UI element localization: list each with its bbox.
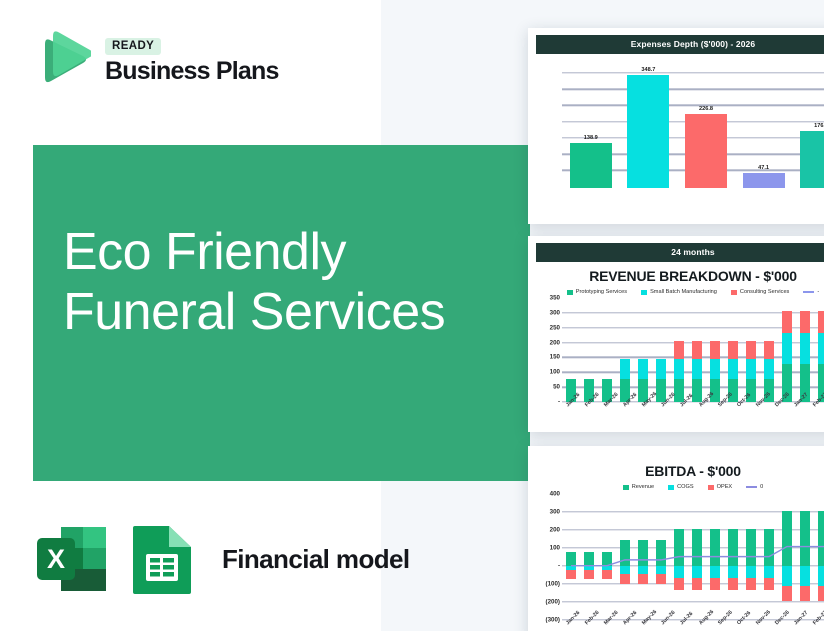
- chart-header-expenses: Expenses Depth ($'000) - 2026: [536, 35, 824, 54]
- bar-column: [602, 298, 612, 402]
- bar-value-label: 226.8: [699, 106, 713, 112]
- bar-column: [566, 298, 576, 402]
- y-tick-label: (200): [546, 599, 560, 606]
- x-tick: Jan-27: [787, 620, 797, 631]
- legend-swatch: [731, 290, 737, 295]
- chart-title-revenue: REVENUE BREAKDOWN - $'000: [536, 268, 824, 284]
- legend-swatch: [746, 486, 757, 488]
- bar-segment: [710, 341, 720, 359]
- play-logo-icon: [33, 30, 91, 90]
- bar-segment: [620, 359, 630, 380]
- legend-label: -: [817, 289, 819, 295]
- legend-label: Small Batch Manufacturing: [650, 289, 717, 295]
- microsoft-excel-icon: X: [34, 521, 110, 597]
- bar-value-label: 138.9: [584, 135, 598, 141]
- legend-swatch: [803, 291, 814, 293]
- x-tick: Oct-26: [730, 402, 740, 424]
- y-axis-revenue: 35030025020015010050-: [536, 298, 562, 402]
- bar-column: [728, 298, 738, 402]
- x-tick: Jun-26: [654, 402, 664, 424]
- footer-formats: X Financial model: [34, 521, 410, 597]
- x-axis-ebitda: Jan-26Feb-26Mar-26Apr-26May-26Jun-26Jul-…: [554, 620, 824, 631]
- bar-segment: [638, 359, 648, 380]
- x-tick: May-26: [635, 620, 645, 631]
- x-tick: Mar-26: [597, 402, 607, 424]
- bar-segment: [746, 359, 756, 380]
- chart-plot-ebitda: 400300200100-(100)(200)(300): [536, 494, 824, 620]
- legend-label: Prototyping Services: [576, 289, 627, 295]
- google-sheets-icon: [127, 521, 197, 597]
- bar-segment: [782, 311, 792, 333]
- legend-item: Small Batch Manufacturing: [641, 289, 717, 295]
- brand-header: READY Business Plans: [33, 30, 279, 90]
- bar-segment: [746, 341, 756, 359]
- bar: [800, 131, 824, 188]
- y-tick-label: 200: [550, 527, 560, 534]
- financial-model-label: Financial model: [222, 544, 410, 575]
- bar: [570, 143, 612, 188]
- chart-legend-ebitda: RevenueCOGSOPEX0: [536, 484, 824, 490]
- bar-segment: [800, 311, 810, 333]
- bar-segment: [692, 341, 702, 359]
- legend-label: OPEX: [717, 484, 733, 490]
- legend-item: 0: [746, 484, 763, 490]
- bar-column: [584, 298, 594, 402]
- bar-column: [782, 298, 792, 402]
- legend-swatch: [567, 290, 573, 295]
- x-tick: Feb-27: [806, 620, 816, 631]
- chart-plot-revenue: 35030025020015010050-: [536, 298, 824, 402]
- bars-expenses: 138.9348.7226.847.1176.5: [562, 58, 824, 188]
- x-tick: Nov-26: [749, 620, 759, 631]
- x-tick: Aug-26: [692, 620, 702, 631]
- legend-item: Consulting Services: [731, 289, 789, 295]
- bar-column: 176.5: [800, 58, 824, 188]
- bar-column: [800, 298, 810, 402]
- y-tick-label: -: [558, 563, 560, 570]
- bar-segment: [692, 379, 702, 402]
- x-tick: Jan-27: [787, 402, 797, 424]
- chart-legend-revenue: Prototyping ServicesSmall Batch Manufact…: [536, 289, 824, 295]
- bar-segment: [818, 311, 824, 333]
- legend-swatch: [708, 485, 714, 490]
- x-tick: Feb-27: [806, 402, 816, 424]
- bar-segment: [764, 341, 774, 359]
- x-tick: May-26: [635, 402, 645, 424]
- legend-label: 0: [760, 484, 763, 490]
- chart-card-ebitda: EBITDA - $'000 RevenueCOGSOPEX0 40030020…: [528, 446, 824, 631]
- svg-text:X: X: [47, 544, 65, 574]
- x-tick: Feb-26: [578, 620, 588, 631]
- y-tick-label: 100: [550, 545, 560, 552]
- x-tick: Nov-26: [749, 402, 759, 424]
- legend-label: Consulting Services: [740, 289, 789, 295]
- y-tick-label: 100: [550, 369, 560, 376]
- bar-value-label: 176.5: [814, 123, 824, 129]
- bar-column: [620, 298, 630, 402]
- x-tick: Jun-26: [654, 620, 664, 631]
- bar-column: [656, 298, 666, 402]
- x-tick: Dec-26: [768, 620, 778, 631]
- bar-segment: [800, 333, 810, 364]
- bar-segment: [692, 359, 702, 380]
- x-tick: Jan-26: [559, 620, 569, 631]
- bar-column: 348.7: [627, 58, 669, 188]
- brand-name: Business Plans: [105, 58, 279, 86]
- bar-column: [710, 298, 720, 402]
- y-tick-label: 250: [550, 324, 560, 331]
- bar-column: [818, 298, 824, 402]
- chart-card-expenses: Expenses Depth ($'000) - 2026 138.9348.7…: [528, 28, 824, 224]
- bar-column: [692, 298, 702, 402]
- chart-header-revenue: 24 months: [536, 243, 824, 262]
- bar-segment: [764, 359, 774, 380]
- bar-column: 226.8: [685, 58, 727, 188]
- x-axis-revenue: Jan-26Feb-26Mar-26Apr-26May-26Jun-26Jul-…: [554, 402, 824, 424]
- y-tick-label: 200: [550, 339, 560, 346]
- page-title: Eco Friendly Funeral Services: [63, 222, 445, 342]
- bar-column: 47.1: [743, 58, 785, 188]
- bar-segment: [656, 359, 666, 380]
- legend-item: COGS: [668, 484, 693, 490]
- bar-segment: [674, 359, 684, 380]
- bar-segment: [674, 341, 684, 359]
- x-tick: Oct-26: [730, 620, 740, 631]
- y-tick-label: 150: [550, 354, 560, 361]
- x-tick: Apr-26: [616, 620, 626, 631]
- bar-segment: [782, 333, 792, 364]
- bar-column: [746, 298, 756, 402]
- bar: [627, 75, 669, 188]
- bar-value-label: 47.1: [758, 165, 769, 171]
- bar-column: 138.9: [570, 58, 612, 188]
- legend-label: COGS: [677, 484, 693, 490]
- bar-value-label: 348.7: [641, 67, 655, 73]
- y-tick-label: 400: [550, 491, 560, 498]
- x-tick: Feb-26: [578, 402, 588, 424]
- x-tick: Sep-26: [711, 402, 721, 424]
- x-tick: Jul-26: [673, 620, 683, 631]
- y-tick-label: 300: [550, 309, 560, 316]
- reference-line-zero: [562, 494, 824, 620]
- bar-segment: [710, 359, 720, 380]
- legend-item: Revenue: [623, 484, 654, 490]
- bar-column: [764, 298, 774, 402]
- bar-segment: [728, 341, 738, 359]
- bar: [685, 114, 727, 188]
- y-tick-label: 350: [550, 295, 560, 302]
- x-tick: Sep-26: [711, 620, 721, 631]
- chart-plot-expenses: 138.9348.7226.847.1176.5: [536, 58, 824, 188]
- x-tick: Dec-26: [768, 402, 778, 424]
- legend-item: -: [803, 289, 819, 295]
- bar-column: [638, 298, 648, 402]
- legend-label: Revenue: [632, 484, 654, 490]
- bar-segment: [818, 333, 824, 364]
- x-tick: Jul-26: [673, 402, 683, 424]
- bar-segment: [728, 359, 738, 380]
- chart-card-revenue: 24 months REVENUE BREAKDOWN - $'000 Prot…: [528, 236, 824, 432]
- bars-revenue: [562, 298, 824, 402]
- y-axis-ebitda: 400300200100-(100)(200)(300): [536, 494, 562, 620]
- x-tick: Apr-26: [616, 402, 626, 424]
- legend-swatch: [641, 290, 647, 295]
- legend-swatch: [668, 485, 674, 490]
- chart-title-ebitda: EBITDA - $'000: [536, 463, 824, 479]
- bar-column: [674, 298, 684, 402]
- ready-badge: READY: [105, 38, 161, 55]
- y-tick-label: (100): [546, 581, 560, 588]
- legend-item: Prototyping Services: [567, 289, 627, 295]
- legend-item: OPEX: [708, 484, 733, 490]
- x-tick: Jan-26: [559, 402, 569, 424]
- y-tick-label: 50: [553, 384, 560, 391]
- x-tick: Mar-26: [597, 620, 607, 631]
- hero-block: Eco Friendly Funeral Services: [33, 145, 530, 481]
- bar: [743, 173, 785, 188]
- legend-swatch: [623, 485, 629, 490]
- y-tick-label: 300: [550, 509, 560, 516]
- x-tick: Aug-26: [692, 402, 702, 424]
